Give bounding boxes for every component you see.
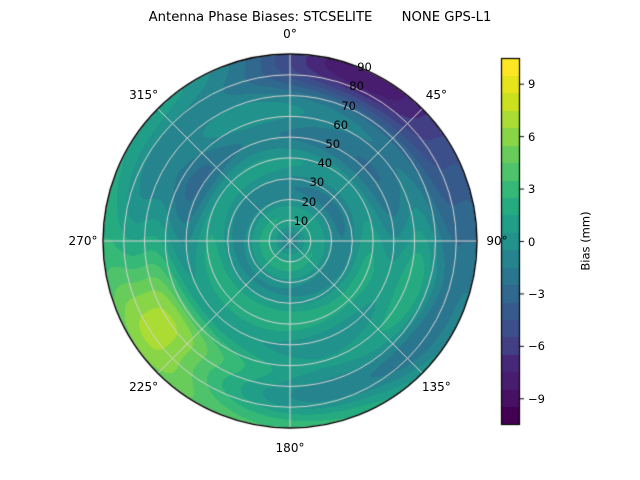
figure-canvas-area: Antenna Phase Biases: STCSELITE NONE GPS…: [0, 0, 640, 480]
polar-contour-plot: [0, 0, 640, 480]
